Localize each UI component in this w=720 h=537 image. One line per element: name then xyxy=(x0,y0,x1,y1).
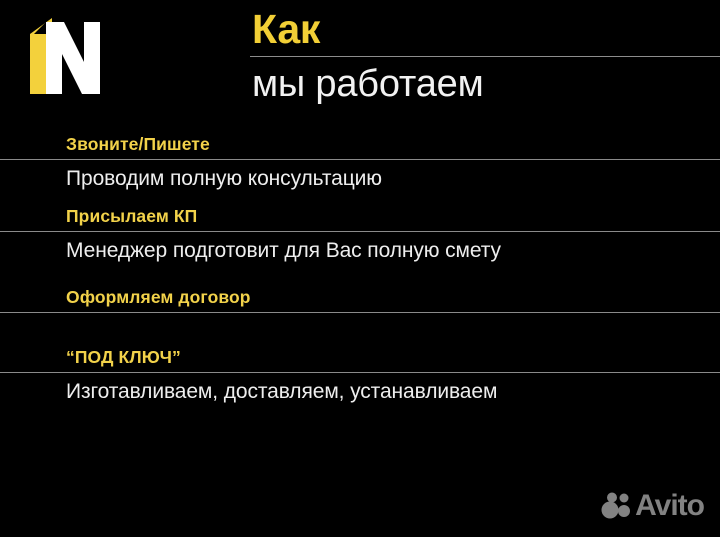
step-divider xyxy=(0,312,720,313)
step-item-4: “ПОД КЛЮЧ” Изготавливаем, доставляем, ус… xyxy=(0,346,720,407)
title-block: Как мы работаем xyxy=(250,6,720,107)
header: Как мы работаем xyxy=(0,0,720,118)
step-divider xyxy=(0,372,720,373)
avito-dots-icon xyxy=(601,492,631,520)
title-divider xyxy=(250,56,720,57)
n-monogram-logo-icon xyxy=(28,10,114,102)
avito-watermark: Avito xyxy=(601,491,704,521)
step-subtitle: Менеджер подготовит для Вас полную смету xyxy=(66,232,720,266)
step-heading: “ПОД КЛЮЧ” xyxy=(66,346,720,369)
step-subtitle: Проводим полную консультацию xyxy=(66,160,720,194)
steps-list: Звоните/Пишете Проводим полную консульта… xyxy=(0,133,720,418)
step-divider xyxy=(0,159,720,160)
avito-watermark-label: Avito xyxy=(635,491,704,521)
page-title-primary: Как xyxy=(250,6,720,54)
step-subtitle: Изготавливаем, доставляем, устанавливаем xyxy=(66,373,720,407)
step-divider xyxy=(0,231,720,232)
page-title-secondary: мы работаем xyxy=(250,59,720,107)
step-heading: Оформляем договор xyxy=(66,286,720,309)
step-heading: Присылаем КП xyxy=(66,205,720,228)
step-item-2: Присылаем КП Менеджер подготовит для Вас… xyxy=(0,205,720,266)
step-item-3: Оформляем договор xyxy=(0,286,720,313)
brand-logo xyxy=(28,10,114,102)
step-heading: Звоните/Пишете xyxy=(66,133,720,156)
step-item-1: Звоните/Пишете Проводим полную консульта… xyxy=(0,133,720,194)
